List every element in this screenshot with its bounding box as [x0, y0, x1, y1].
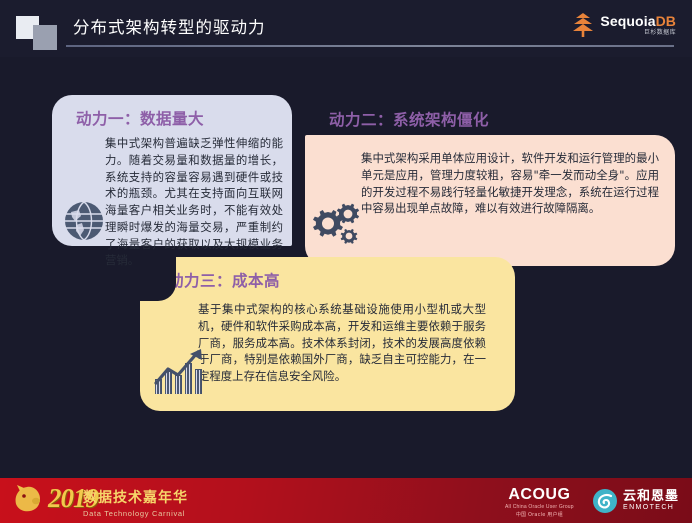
sequoia-tree-icon — [571, 12, 595, 38]
enmotech-logo: 云和恩墨 ENMOTECH — [592, 488, 679, 514]
driver-card-2: 动力二：系统架构僵化 集中式架构采用单体应用设计，软件开发和运行管理的最小单元是… — [305, 135, 675, 266]
brand-subtitle: 巨杉数据库 — [600, 30, 676, 36]
enmotech-name-en: ENMOTECH — [623, 504, 679, 512]
driver-card-3: 动力三：成本高 基于集中式架构的核心系统基础设施使用小型机或大型机，硬件和软件采… — [140, 257, 515, 411]
enmotech-swirl-icon — [592, 488, 618, 514]
pig-icon — [12, 482, 46, 515]
brand-logo: SequoiaDB 巨杉数据库 — [571, 10, 676, 40]
brand-name-main: Sequoia — [600, 13, 655, 29]
footer-event-en: Data Technology Carnival — [83, 509, 188, 518]
page-footer: 2019 数据技术嘉年华 Data Technology Carnival AC… — [0, 478, 692, 523]
footer-event-cn: 数据技术嘉年华 — [83, 487, 188, 507]
page-title: 分布式架构转型的驱动力 — [73, 14, 266, 38]
acoug-subtitle-en: All China Oracle User Group — [505, 504, 574, 510]
driver-card-1-body: 集中式架构普遍缺乏弹性伸缩的能力。随着交易量和数据量的增长，系统支持的容量容易遇… — [105, 135, 283, 269]
driver-card-3-body: 基于集中式架构的核心系统基础设施使用小型机或大型机，硬件和软件采购成本高，开发和… — [198, 301, 486, 385]
header-divider — [66, 45, 674, 47]
page-header: 分布式架构转型的驱动力 SequoiaDB 巨杉数据库 — [0, 0, 692, 57]
bar-chart-growth-icon — [154, 347, 206, 395]
globe-icon — [62, 199, 106, 243]
driver-card-3-notch — [140, 257, 176, 301]
brand-name: SequoiaDB — [600, 14, 676, 28]
driver-card-1-title: 动力一：数据量大 — [76, 107, 204, 129]
driver-card-1: 动力一：数据量大 集中式架构普遍缺乏弹性伸缩的能力。随着交易量和数据量的增长，系… — [52, 95, 292, 246]
driver-card-3-title: 动力三：成本高 — [168, 269, 280, 291]
overlapping-squares-icon — [16, 16, 61, 51]
driver-card-2-body: 集中式架构采用单体应用设计，软件开发和运行管理的最小单元是应用，管理力度较粗，容… — [361, 150, 659, 217]
footer-event: 数据技术嘉年华 Data Technology Carnival — [83, 487, 188, 518]
enmotech-name-cn: 云和恩墨 — [623, 490, 679, 504]
driver-card-2-title: 动力二：系统架构僵化 — [329, 108, 489, 130]
gears-icon — [313, 201, 365, 245]
acoug-logo: ACOUG All China Oracle User Group 中国 Ora… — [505, 486, 574, 518]
acoug-subtitle-cn: 中国 Oracle 用户组 — [505, 511, 574, 518]
brand-name-accent: DB — [656, 13, 676, 29]
acoug-name: ACOUG — [505, 486, 574, 504]
